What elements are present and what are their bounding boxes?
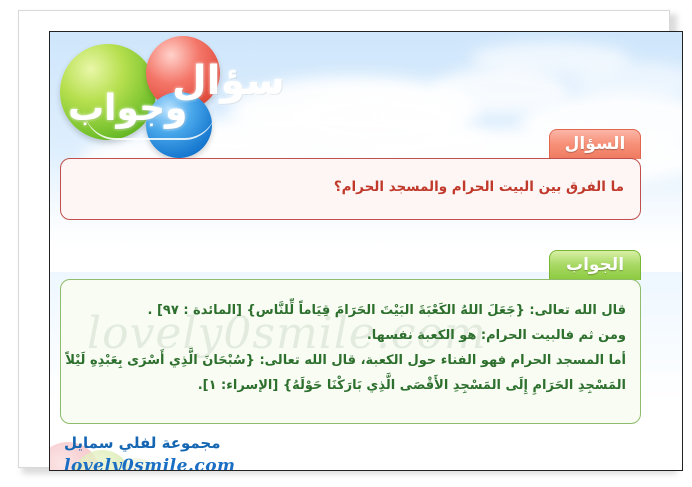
footer-site-url[interactable]: lovely0smile.com <box>64 456 236 471</box>
footer-group-name: مجموعة لفلي سمايل <box>64 434 221 452</box>
page-root: سؤال وجواب السؤال ما الفرق بين البيت الح… <box>0 0 692 487</box>
question-box: ما الفرق بين البيت الحرام والمسجد الحرام… <box>60 158 641 220</box>
outer-card: سؤال وجواب السؤال ما الفرق بين البيت الح… <box>18 10 670 468</box>
tab-answer[interactable]: الجواب <box>549 250 641 280</box>
site-logo: سؤال وجواب <box>54 36 270 148</box>
answer-line: أما المسجد الحرام فهو الفناء حول الكعبة،… <box>75 348 626 373</box>
answer-box: lovely0smile.com قال الله تعالى: {جَعَلَ… <box>60 279 641 424</box>
logo-word-answer: وجواب <box>68 88 187 129</box>
answer-line: المَسْجِدِ الحَرَامِ إِلَى المَسْجِدِ ال… <box>75 373 626 398</box>
content-frame: سؤال وجواب السؤال ما الفرق بين البيت الح… <box>49 31 683 471</box>
logo-word-question: سؤال <box>172 58 285 104</box>
question-text: ما الفرق بين البيت الحرام والمسجد الحرام… <box>334 179 624 195</box>
footer: مجموعة لفلي سمايل lovely0smile.com <box>50 428 682 471</box>
answer-line: ومن ثم فالبيت الحرام: هو الكعبة نفسها. <box>75 323 626 348</box>
answer-text-block: قال الله تعالى: {جَعَلَ اللهُ الكَعْبَةَ… <box>75 298 626 398</box>
answer-line: قال الله تعالى: {جَعَلَ اللهُ الكَعْبَةَ… <box>75 298 626 323</box>
tab-question[interactable]: السؤال <box>549 129 641 159</box>
